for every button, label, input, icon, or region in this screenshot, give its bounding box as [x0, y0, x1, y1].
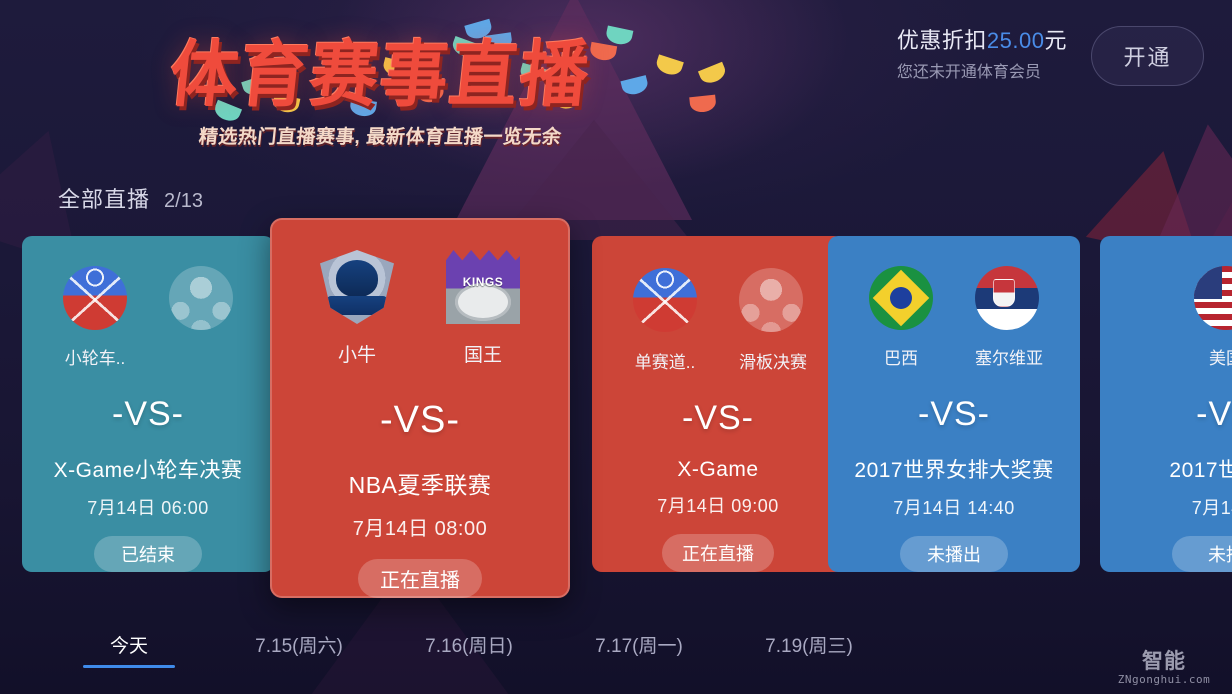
- team-name-left: 美国: [1194, 344, 1232, 369]
- mixed-ball-icon: [633, 268, 697, 332]
- match-title: NBA夏季联赛: [349, 466, 492, 500]
- team-name-left: 巴西: [869, 344, 933, 369]
- match-time: 7月14日 14:40: [893, 494, 1015, 520]
- site-watermark: 智能 ZNgonghui.com: [1112, 640, 1216, 686]
- promo-text-block: 优惠折扣25.00元 您还未开通体育会员: [897, 26, 1067, 86]
- team-name-right: 滑板决赛: [739, 348, 803, 373]
- match-time: 7月14日 08:00: [353, 512, 487, 541]
- date-tab[interactable]: 今天: [44, 631, 214, 668]
- section-heading: 全部直播 2/13: [58, 182, 203, 214]
- team-names: 小轮车..: [22, 344, 274, 369]
- team-name-left: 单赛道..: [633, 348, 697, 373]
- match-card[interactable]: 小牛国王-VS-NBA夏季联赛7月14日 08:00正在直播: [270, 218, 570, 598]
- match-time: 7月14日: [1192, 494, 1232, 520]
- brazil-flag-icon: [869, 266, 933, 330]
- promo-discount-line: 优惠折扣25.00元: [897, 26, 1067, 56]
- active-tab-underline: [83, 665, 175, 668]
- date-tab[interactable]: 7.19(周三): [724, 631, 894, 668]
- team-name-left: 小轮车..: [63, 344, 127, 369]
- status-badge[interactable]: 已结束: [94, 536, 202, 572]
- vs-separator: -VS-: [918, 395, 990, 434]
- match-time: 7月14日 09:00: [657, 492, 779, 518]
- status-badge[interactable]: 未播出: [900, 536, 1008, 572]
- match-card[interactable]: 美国-VS2017世界女7月14日未播: [1100, 236, 1232, 572]
- match-title: X-Game小轮车决赛: [54, 454, 243, 484]
- usa-flag-icon: [1194, 266, 1232, 330]
- sports-live-page: 优惠折扣25.00元 您还未开通体育会员 开通 体育赛事直播 精选热门直播赛事,…: [0, 0, 1232, 694]
- serbia-flag-icon: [975, 266, 1039, 330]
- team-logos: [1194, 264, 1232, 332]
- status-badge[interactable]: 未播: [1172, 536, 1232, 572]
- section-title: 全部直播: [58, 182, 150, 214]
- team-logos: [320, 250, 520, 324]
- team-name-right: 国王: [446, 340, 520, 367]
- team-names: 美国: [1100, 344, 1232, 369]
- membership-promo: 优惠折扣25.00元 您还未开通体育会员 开通: [897, 26, 1204, 86]
- match-card[interactable]: 单赛道..滑板决赛-VS-X-Game7月14日 09:00正在直播: [592, 236, 844, 572]
- match-title: X-Game: [677, 458, 758, 482]
- promo-price-value: 25.00: [987, 28, 1045, 53]
- mixed-ball-icon: [63, 266, 127, 330]
- date-tab-label: 7.19(周三): [765, 636, 853, 657]
- vs-separator: -VS-: [682, 399, 754, 438]
- page-banner: 体育赛事直播 精选热门直播赛事, 最新体育直播一览无余: [0, 36, 760, 149]
- date-tab[interactable]: 7.16(周日): [384, 631, 554, 668]
- date-tab-label: 7.16(周日): [425, 636, 513, 657]
- mavericks-logo-icon: [320, 250, 394, 324]
- vs-separator: -VS-: [112, 395, 184, 434]
- match-title: 2017世界女排大奖赛: [854, 454, 1053, 484]
- team-logos: [63, 264, 233, 332]
- team-logos: [869, 264, 1039, 332]
- status-badge[interactable]: 正在直播: [358, 559, 482, 598]
- team-names: 小牛国王: [270, 340, 570, 367]
- vs-separator: -VS: [1196, 395, 1232, 434]
- team-name-left: 小牛: [320, 340, 394, 367]
- date-tab-label: 7.15(周六): [255, 636, 343, 657]
- promo-status-text: 您还未开通体育会员: [897, 60, 1067, 86]
- status-badge[interactable]: 正在直播: [662, 534, 774, 572]
- soccer-ball-placeholder-icon: [739, 268, 803, 332]
- soccer-ball-placeholder-icon: [169, 266, 233, 330]
- team-names: 单赛道..滑板决赛: [592, 348, 844, 373]
- match-card[interactable]: 巴西塞尔维亚-VS-2017世界女排大奖赛7月14日 14:40未播出: [828, 236, 1080, 572]
- watermark-url: ZNgonghui.com: [1118, 673, 1211, 686]
- section-count: 2/13: [164, 190, 203, 213]
- activate-membership-button[interactable]: 开通: [1091, 26, 1204, 86]
- kings-logo-icon: [446, 250, 520, 324]
- banner-title: 体育赛事直播: [166, 34, 595, 119]
- banner-subtitle: 精选热门直播赛事, 最新体育直播一览无余: [197, 122, 562, 149]
- date-tab[interactable]: 7.17(周一): [554, 631, 724, 668]
- match-card-rail[interactable]: 小轮车..-VS-X-Game小轮车决赛7月14日 06:00已结束小牛国王-V…: [0, 228, 1232, 580]
- match-time: 7月14日 06:00: [87, 494, 209, 520]
- promo-discount-label: 优惠折扣: [897, 28, 987, 53]
- team-logos: [633, 264, 803, 336]
- date-tab-bar[interactable]: 今天7.15(周六)7.16(周日)7.17(周一)7.19(周三): [0, 631, 1232, 668]
- date-tab-label: 7.17(周一): [595, 636, 683, 657]
- team-name-right: 塞尔维亚: [975, 344, 1039, 369]
- team-name-right: [169, 344, 233, 369]
- date-tab[interactable]: 7.15(周六): [214, 631, 384, 668]
- watermark-mark: 智能: [1142, 649, 1186, 673]
- vs-separator: -VS-: [380, 399, 460, 442]
- date-tab-label: 今天: [110, 636, 148, 657]
- match-card[interactable]: 小轮车..-VS-X-Game小轮车决赛7月14日 06:00已结束: [22, 236, 274, 572]
- team-names: 巴西塞尔维亚: [828, 344, 1080, 369]
- match-title: 2017世界女: [1169, 454, 1232, 484]
- promo-price-unit: 元: [1044, 28, 1067, 53]
